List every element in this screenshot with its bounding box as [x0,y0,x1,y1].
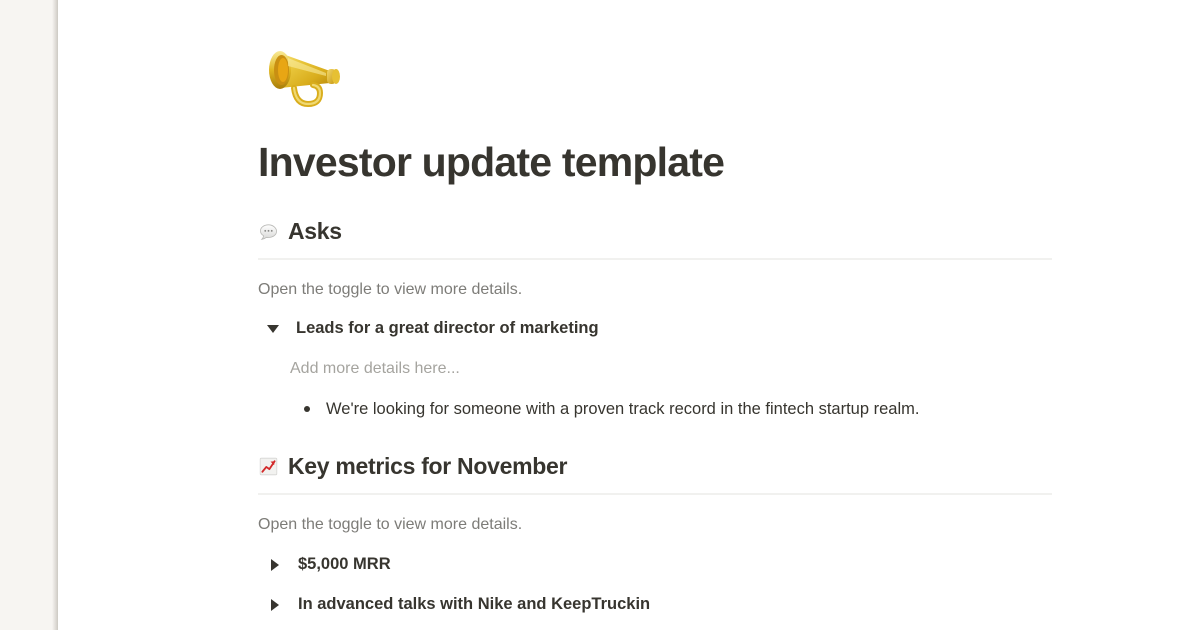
section-divider-key-metrics [258,493,1052,495]
toggle-leads-label: Leads for a great director of marketing [296,317,599,341]
triangle-down-icon[interactable] [264,317,282,341]
speech-balloon-icon [258,222,279,243]
list-item[interactable]: We're looking for someone with a proven … [304,397,1052,422]
sidebar[interactable] [0,0,58,630]
section-divider-asks [258,258,1052,260]
speech-balloon-glyph [258,222,279,243]
section-key-metrics: Key metrics for November Open the toggle… [258,452,1052,630]
app-window: Investor update template [0,0,1200,630]
toggle-mrr-label: $5,000 MRR [298,553,391,577]
chart-increasing-glyph [258,456,279,477]
add-details-placeholder[interactable]: Add more details here... [290,357,1052,381]
megaphone-glyph [258,28,350,114]
bullet-icon [304,397,322,412]
bullet-text: We're looking for someone with a proven … [326,397,919,422]
asks-hint-text: Open the toggle to view more details. [258,278,1052,302]
section-heading-asks-label: Asks [288,217,342,247]
key-metrics-hint-text: Open the toggle to view more details. [258,513,1052,537]
document-scroll-area[interactable]: Investor update template [58,0,1200,630]
section-asks: Asks Open the toggle to view more detail… [258,217,1052,422]
section-heading-key-metrics[interactable]: Key metrics for November [258,452,1052,482]
toggle-advanced-talks-label: In advanced talks with Nike and KeepTruc… [298,593,650,617]
toggle-advanced-talks[interactable]: In advanced talks with Nike and KeepTruc… [258,593,1052,617]
triangle-right-icon[interactable] [266,593,284,617]
page-title[interactable]: Investor update template [258,138,1052,187]
toggle-leads-children: Add more details here... We're looking f… [290,357,1052,422]
megaphone-icon[interactable] [258,28,1052,114]
document-page: Investor update template [258,0,1052,630]
toggle-mrr[interactable]: $5,000 MRR [258,553,1052,577]
section-heading-asks[interactable]: Asks [258,217,1052,247]
chart-increasing-icon [258,456,279,477]
section-heading-key-metrics-label: Key metrics for November [288,452,567,482]
triangle-right-icon[interactable] [266,553,284,577]
toggle-leads-director-marketing[interactable]: Leads for a great director of marketing [258,317,1052,341]
